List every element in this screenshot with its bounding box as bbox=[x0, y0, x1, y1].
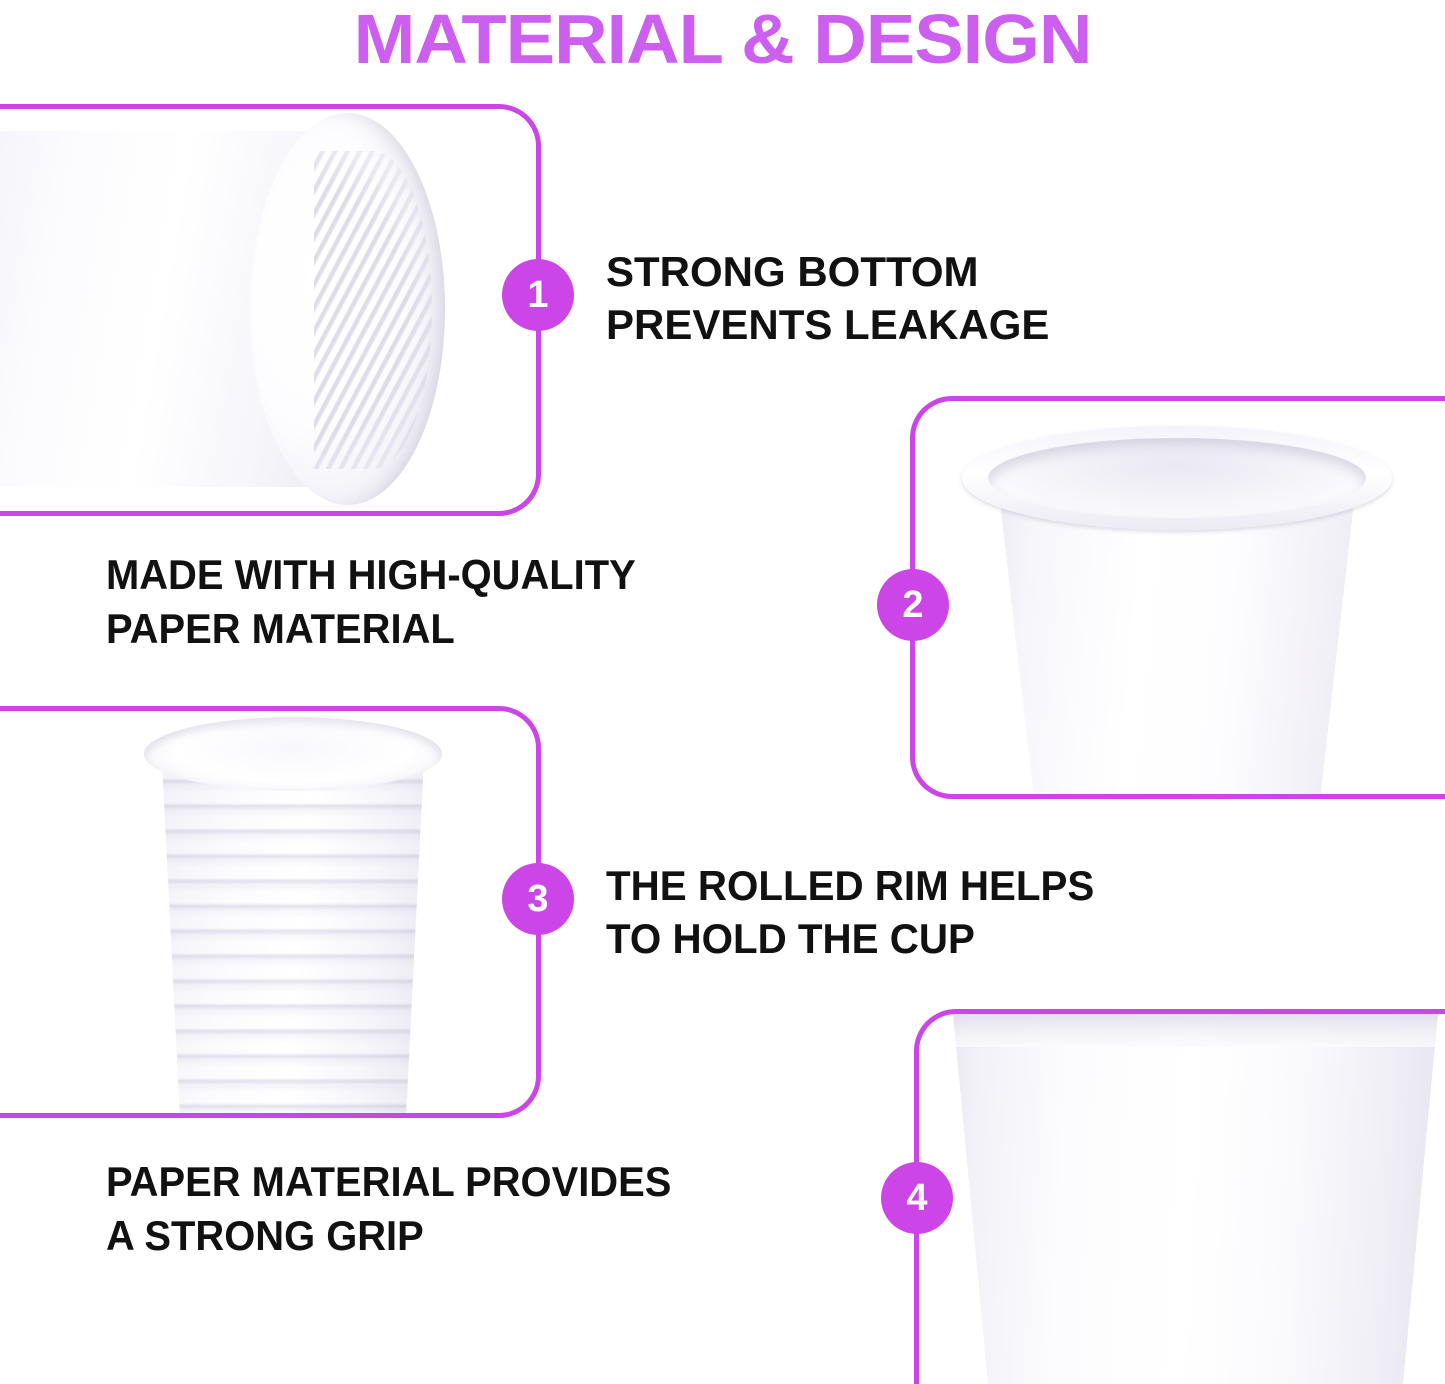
feature-caption-4: PAPER MATERIAL PROVIDES A STRONG GRIP bbox=[106, 1155, 671, 1263]
cup-stack-top-rim bbox=[144, 717, 442, 791]
cup-bottom-ridges bbox=[314, 151, 432, 469]
cup-wall-rim bbox=[938, 1013, 1438, 1047]
cup-wall-body bbox=[938, 1013, 1438, 1384]
feature-badge-1: 1 bbox=[502, 259, 574, 331]
feature-photo-3 bbox=[0, 709, 528, 1113]
feature-caption-2: MADE WITH HIGH-QUALITY PAPER MATERIAL bbox=[106, 548, 636, 656]
feature-badge-2: 2 bbox=[877, 569, 949, 641]
cup-stack-graphic bbox=[128, 717, 458, 1113]
infographic-canvas: MATERIAL & DESIGN 1 STRONG BOTTOM PREVEN… bbox=[0, 0, 1445, 1384]
cup-stack-rims bbox=[136, 743, 450, 1113]
feature-badge-4: 4 bbox=[881, 1162, 953, 1234]
feature-badge-3: 3 bbox=[502, 863, 574, 935]
feature-caption-3: THE ROLLED RIM HELPS TO HOLD THE CUP bbox=[606, 859, 1094, 965]
feature-caption-1: STRONG BOTTOM PREVENTS LEAKAGE bbox=[606, 245, 1049, 351]
page-title: MATERIAL & DESIGN bbox=[0, 2, 1445, 76]
feature-photo-4 bbox=[924, 1013, 1445, 1384]
open-cup-inner bbox=[988, 438, 1366, 518]
feature-photo-1 bbox=[0, 107, 528, 511]
open-cup-graphic bbox=[962, 410, 1392, 795]
feature-photo-2 bbox=[920, 400, 1445, 795]
